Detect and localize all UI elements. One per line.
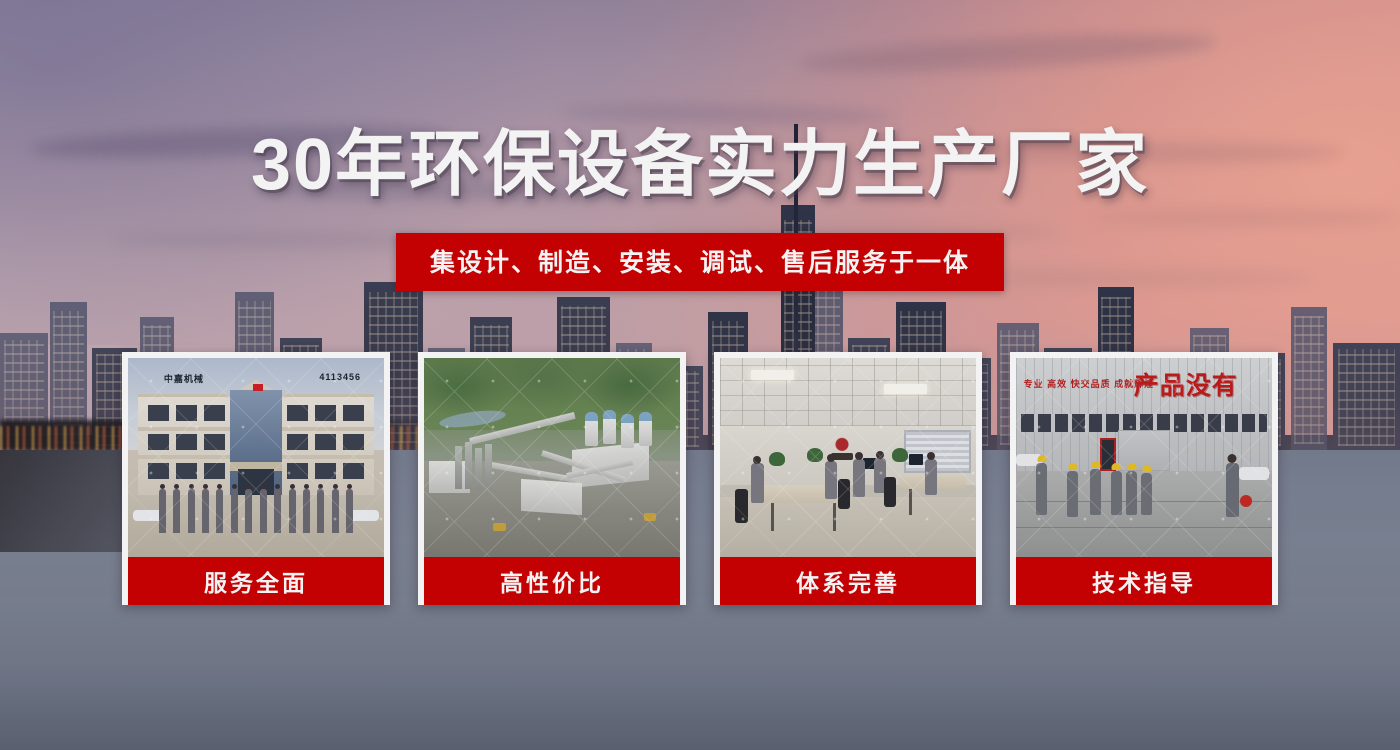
feature-card-row: 中嘉机械 4113456 服务全面 — [122, 352, 1278, 605]
aerial-production-plant-photo — [424, 358, 680, 557]
subtitle-banner: 集设计、制造、安装、调试、售后服务于一体 — [396, 233, 1004, 291]
feature-card[interactable]: 高性价比 — [418, 352, 686, 605]
building-phone-text: 4113456 — [319, 372, 361, 382]
feature-card[interactable]: 产品没有 专业 高效 快交品质 成就辉煌 技术指导 — [1010, 352, 1278, 605]
feature-card[interactable]: 体系完善 — [714, 352, 982, 605]
feature-card-label: 服务全面 — [128, 557, 384, 605]
feature-card-label: 高性价比 — [424, 557, 680, 605]
feature-card-label: 体系完善 — [720, 557, 976, 605]
subtitle-bar-wrapper: 集设计、制造、安装、调试、售后服务于一体 — [0, 233, 1400, 291]
factory-slogan-text: 专业 高效 快交品质 成就辉煌 — [1024, 378, 1155, 391]
factory-yard-workers-photo: 产品没有 专业 高效 快交品质 成就辉煌 — [1016, 358, 1272, 557]
page-title: 30年环保设备实力生产厂家 — [0, 128, 1400, 204]
company-office-building-photo: 中嘉机械 4113456 — [128, 358, 384, 557]
building-sign-text: 中嘉机械 — [164, 372, 204, 385]
feature-card[interactable]: 中嘉机械 4113456 服务全面 — [122, 352, 390, 605]
feature-card-label: 技术指导 — [1016, 557, 1272, 605]
promo-banner: 30年环保设备实力生产厂家 集设计、制造、安装、调试、售后服务于一体 — [0, 0, 1400, 750]
office-interior-staff-photo — [720, 358, 976, 557]
